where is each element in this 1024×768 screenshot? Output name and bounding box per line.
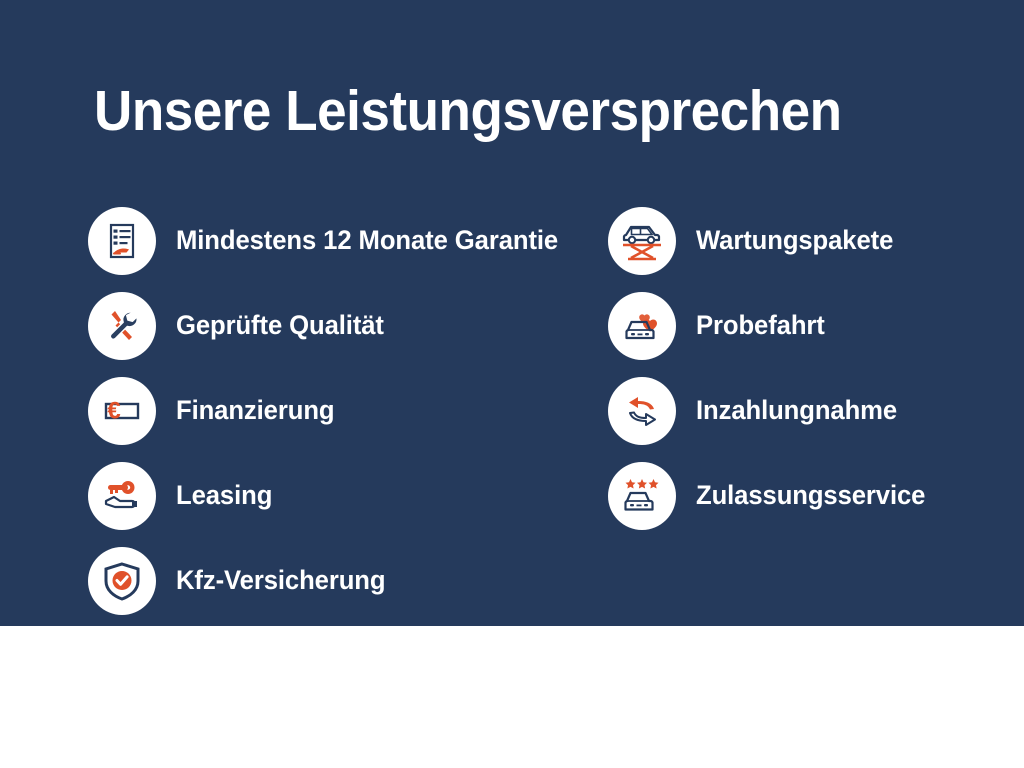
car-stars-icon <box>620 474 664 518</box>
exchange-arrows-icon <box>621 390 663 432</box>
promo-banner: Unsere Leistungsversprechen <box>0 0 1024 768</box>
feature-label: Leasing <box>176 480 272 511</box>
feature-label: Geprüfte Qualität <box>176 310 384 341</box>
key-in-hand-icon <box>101 475 143 517</box>
badge-circle <box>608 377 676 445</box>
warranty-document-icon <box>102 221 142 261</box>
badge-circle <box>88 462 156 530</box>
badge-circle <box>608 292 676 360</box>
feature-item-qualitaet[interactable]: Geprüfte Qualität <box>88 283 608 368</box>
feature-label: Inzahlungnahme <box>696 395 897 426</box>
feature-label: Probefahrt <box>696 310 825 341</box>
features-grid: Mindestens 12 Monate Garantie <box>0 198 1024 623</box>
feature-label: Kfz-Versicherung <box>176 565 385 596</box>
feature-item-garantie[interactable]: Mindestens 12 Monate Garantie <box>88 198 608 283</box>
feature-item-inzahlungnahme[interactable]: Inzahlungnahme <box>608 368 1008 453</box>
car-lift-icon <box>619 218 665 264</box>
feature-item-probefahrt[interactable]: Probefahrt <box>608 283 1008 368</box>
shield-check-icon <box>101 560 143 602</box>
svg-text:€: € <box>107 397 120 424</box>
banknote-euro-icon: € <box>101 390 143 432</box>
feature-item-versicherung[interactable]: Kfz-Versicherung <box>88 538 608 623</box>
car-hearts-icon <box>620 304 664 348</box>
page-title: Unsere Leistungsversprechen <box>94 83 842 140</box>
badge-circle <box>88 292 156 360</box>
badge-circle: € <box>88 377 156 445</box>
feature-item-wartungspakete[interactable]: Wartungspakete <box>608 198 1008 283</box>
badge-circle <box>88 547 156 615</box>
badge-circle <box>608 207 676 275</box>
tools-icon <box>102 306 142 346</box>
feature-label: Mindestens 12 Monate Garantie <box>176 225 558 256</box>
feature-item-zulassungsservice[interactable]: Zulassungsservice <box>608 453 1008 538</box>
features-column-left: Mindestens 12 Monate Garantie <box>88 198 608 623</box>
feature-item-leasing[interactable]: Leasing <box>88 453 608 538</box>
feature-label: Finanzierung <box>176 395 334 426</box>
badge-circle <box>88 207 156 275</box>
feature-item-finanzierung[interactable]: € Finanzierung <box>88 368 608 453</box>
feature-label: Wartungspakete <box>696 225 893 256</box>
footer-bar: HOLZBERG IHR AUTOHAUS MIT HERZ VOETSVERI… <box>0 626 1024 768</box>
badge-circle <box>608 462 676 530</box>
hero-panel: Unsere Leistungsversprechen <box>0 0 1024 626</box>
feature-label: Zulassungsservice <box>696 480 925 511</box>
features-column-right: Wartungspakete <box>608 198 1008 623</box>
